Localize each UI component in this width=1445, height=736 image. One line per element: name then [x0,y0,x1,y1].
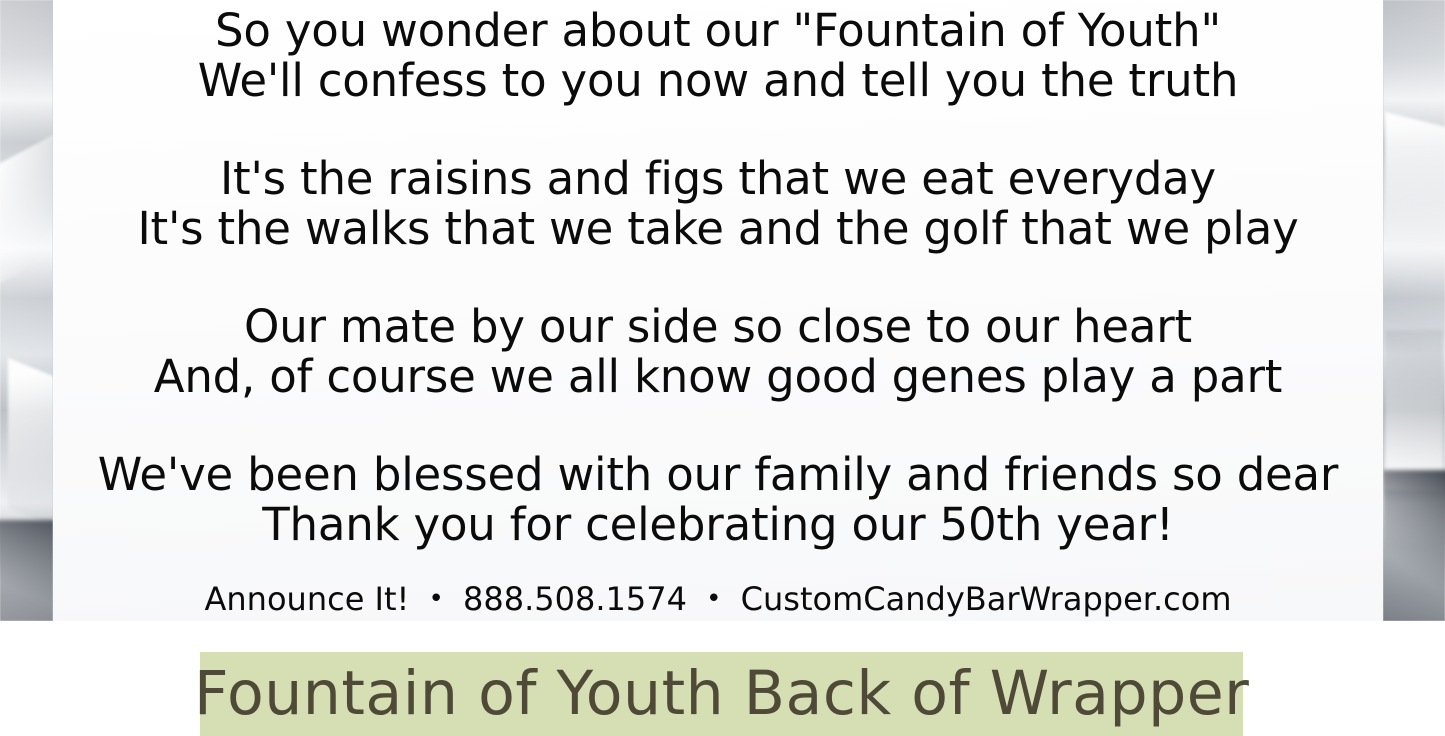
verse-line: Thank you for celebrating our 50th year! [53,500,1383,550]
verse-stanza-2: It's the raisins and figs that we eat ev… [53,154,1383,254]
verse-line: And, of course we all know good genes pl… [53,352,1383,402]
brand-name: Announce It! [205,580,410,618]
verse-line: So you wonder about our "Fountain of You… [53,6,1383,56]
stanza-spacer [53,254,1383,302]
stanza-spacer [53,402,1383,450]
verse-stanza-4: We've been blessed with our family and f… [53,450,1383,550]
verse-line: We'll confess to you now and tell you th… [53,56,1383,106]
caption-bar: Fountain of Youth Back of Wrapper [200,652,1243,736]
stanza-spacer [53,106,1383,154]
page-root: So you wonder about our "Fountain of You… [0,0,1445,736]
verse-line: It's the walks that we take and the golf… [53,204,1383,254]
website-url: CustomCandyBarWrapper.com [741,580,1232,618]
verse-line: Our mate by our side so close to our hea… [53,302,1383,352]
bullet-separator-icon: • [420,584,453,614]
phone-number: 888.508.1574 [463,580,687,618]
caption-label: Fountain of Youth Back of Wrapper [194,661,1249,727]
verse-line: We've been blessed with our family and f… [53,450,1383,500]
wrapper-white-panel: So you wonder about our "Fountain of You… [53,0,1383,621]
verse-stanza-3: Our mate by our side so close to our hea… [53,302,1383,402]
verse-stanza-1: So you wonder about our "Fountain of You… [53,6,1383,106]
credit-line: Announce It! • 888.508.1574 • CustomCand… [53,580,1383,618]
candy-bar-wrapper-image: So you wonder about our "Fountain of You… [0,0,1445,621]
verse-line: It's the raisins and figs that we eat ev… [53,154,1383,204]
verse-text-block: So you wonder about our "Fountain of You… [53,6,1383,550]
bullet-separator-icon: • [697,584,730,614]
